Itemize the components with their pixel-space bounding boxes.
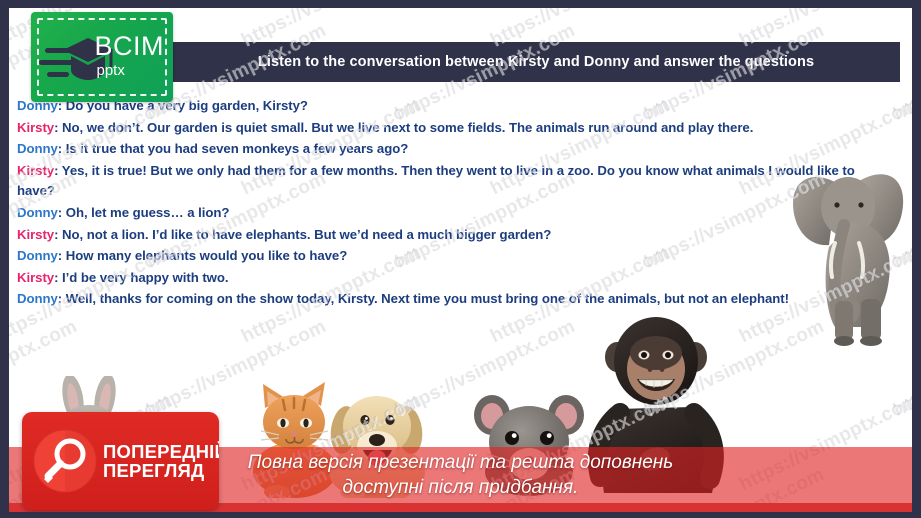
slide-title-bar: Listen to the conversation between Kirst… [172, 42, 900, 82]
dialogue-text: : Oh, let me guess… a lion? [58, 205, 230, 220]
dialogue-line: Donny: Is it true that you had seven mon… [17, 139, 887, 160]
dialogue-line: Kirsty: No, we don’t. Our garden is quie… [17, 118, 887, 139]
dialogue-line: Donny: Well, thanks for coming on the sh… [17, 289, 887, 310]
logo-subtitle: pptx [97, 63, 165, 78]
dialogue-line: Kirsty: No, not a lion. I’d like to have… [17, 225, 887, 246]
magnifier-icon [33, 429, 97, 493]
dialogue-text: : No, not a lion. I’d like to have eleph… [54, 227, 551, 242]
preview-badge-labels: ПОПЕРЕДНІЙ ПЕРЕГЛЯД [103, 442, 219, 480]
speaker-label: Donny [17, 141, 58, 156]
dialogue-text: : Is it true that you had seven monkeys … [58, 141, 408, 156]
dialogue-text: : Well, thanks for coming on the show to… [58, 291, 789, 306]
slide-title: Listen to the conversation between Kirst… [258, 54, 814, 70]
preview-label-line-2: ПЕРЕГЛЯД [103, 461, 219, 480]
speaker-label: Donny [17, 291, 58, 306]
logo-title: BCIM [95, 33, 165, 60]
preview-badge[interactable]: ПОПЕРЕДНІЙ ПЕРЕГЛЯД [22, 412, 219, 510]
speaker-label: Kirsty [17, 270, 54, 285]
bcim-logo[interactable]: BCIM pptx [31, 12, 173, 102]
logo-text-group: BCIM pptx [95, 33, 165, 78]
slide-canvas: https://vsimpptx.comhttps://vsimpptx.com… [9, 8, 912, 512]
dialogue-text: : Yes, it is true! But we only had them … [17, 163, 855, 199]
dialogue-block: Donny: Do you have a very big garden, Ki… [17, 96, 887, 311]
dialogue-line: Kirsty: I’d be very happy with two. [17, 268, 887, 289]
dialogue-text: : I’d be very happy with two. [54, 270, 228, 285]
dialogue-line: Donny: Oh, let me guess… a lion? [17, 203, 887, 224]
speaker-label: Donny [17, 205, 58, 220]
dialogue-line: Donny: How many elephants would you like… [17, 246, 887, 267]
preview-label-line-1: ПОПЕРЕДНІЙ [103, 442, 219, 461]
dialogue-line: Kirsty: Yes, it is true! But we only had… [17, 161, 887, 202]
speaker-label: Kirsty [17, 163, 54, 178]
slide-frame: https://vsimpptx.comhttps://vsimpptx.com… [0, 0, 921, 518]
speaker-label: Kirsty [17, 120, 54, 135]
banner-line-2: доступні після придбання. [343, 475, 579, 500]
dialogue-text: : No, we don’t. Our garden is quiet smal… [54, 120, 753, 135]
dialogue-text: : How many elephants would you like to h… [58, 248, 347, 263]
banner-line-1: Повна версія презентації та решта доповн… [248, 450, 673, 475]
speaker-label: Donny [17, 248, 58, 263]
speaker-label: Kirsty [17, 227, 54, 242]
